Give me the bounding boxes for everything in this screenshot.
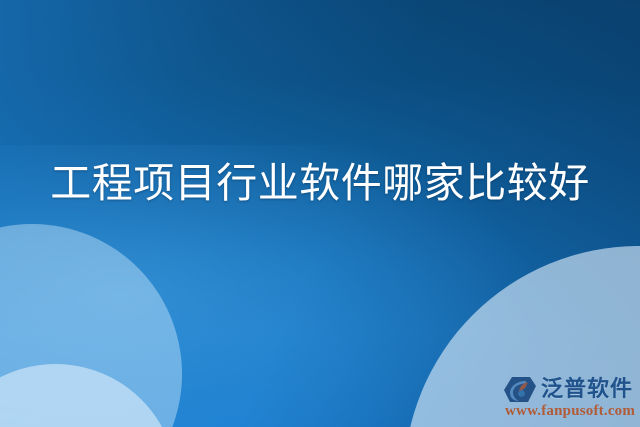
logo-row: 泛普软件: [504, 376, 633, 402]
watermark-logo: 泛普软件 www.fanpusoft.com: [504, 376, 635, 420]
page-title: 工程项目行业软件哪家比较好: [0, 158, 640, 208]
hexagon-swoosh-logo-icon: [504, 377, 536, 402]
brand-name: 泛普软件: [541, 377, 633, 401]
brand-website-url: www.fanpusoft.com: [505, 403, 635, 420]
banner-image: 工程项目行业软件哪家比较好 泛普软件 www.fanpusoft.com: [0, 0, 640, 427]
